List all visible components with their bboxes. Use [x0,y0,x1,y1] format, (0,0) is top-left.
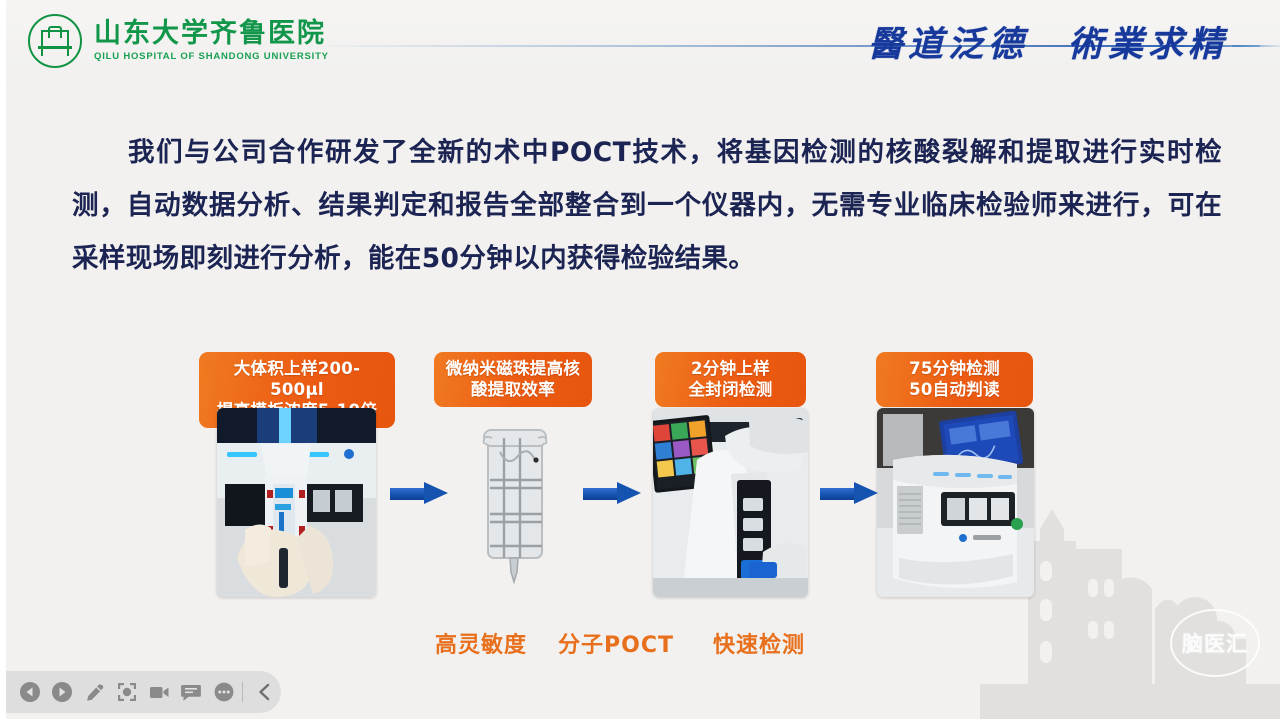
player-toolbar [0,671,281,713]
collapse-toolbar-button[interactable] [249,675,281,709]
logo-bar [38,46,72,49]
qilu-gate-icon [28,14,82,68]
more-options-button[interactable] [208,675,240,709]
photo-microfluidic-cartridge [458,408,570,597]
badge-3-line-1: 2分钟上样 [665,358,796,379]
header-divider-line-right [1232,45,1280,47]
photo-analyzer-touchscreen-loading [653,408,808,597]
previous-icon [19,681,41,703]
pen-icon [84,681,106,703]
video-camera-icon [148,681,170,703]
speech-bubble-icon [180,681,202,703]
arrow-shaft [390,488,428,500]
badge-2-line-2: 酸提取效率 [444,379,582,400]
slide-body-paragraph: 我们与公司合作研发了全新的术中POCT技术，将基因检测的核酸裂解和提取进行实时检… [72,126,1222,285]
flow-caption-3: 快速检测 [713,627,805,659]
play-icon [51,681,73,703]
badge-4-line-2: 50自动判读 [886,379,1023,400]
arrow-head [617,482,641,504]
badge-4-line-1: 75分钟检测 [886,358,1023,379]
workflow-badge-4: 75分钟检测 50自动判读 [876,352,1033,407]
badge-1-line-1: 大体积上样200-500μl [209,358,385,400]
record-video-button[interactable] [143,675,175,709]
ellipsis-icon [213,681,235,703]
photo-gloved-hand-loading-cartridge [217,408,376,597]
focus-frame-icon [116,681,138,703]
workflow-badge-2: 微纳米磁珠提高核 酸提取效率 [434,352,592,407]
arrow-head [424,482,448,504]
flow-arrow-1 [390,482,448,504]
slide-left-edge [0,0,6,719]
arrow-head [854,482,878,504]
logo-english-name: QILU HOSPITAL OF SHANDONG UNIVERSITY [94,51,329,62]
arrow-shaft [583,488,621,500]
poct-workflow-diagram: 大体积上样200-500μl 提高模板浓度5-10倍 微纳米磁珠提高核 酸提取效… [0,352,1280,662]
chevron-left-icon [255,682,275,702]
flow-arrow-3 [820,482,878,504]
photo-benchtop-analyzer [877,408,1034,597]
next-slide-button[interactable] [46,675,78,709]
presentation-slide: 山东大学齐鲁医院 QILU HOSPITAL OF SHANDONG UNIVE… [0,0,1280,719]
badge-3-line-2: 全封闭检测 [665,379,796,400]
toolbar-separator [242,682,243,702]
flow-caption-2: 分子POCT [558,627,674,659]
flow-arrow-2 [583,482,641,504]
arrow-shaft [820,488,858,500]
badge-2-line-1: 微纳米磁珠提高核 [444,358,582,379]
previous-slide-button[interactable] [14,675,46,709]
comment-button[interactable] [175,675,207,709]
pen-annotate-button[interactable] [79,675,111,709]
flow-caption-1: 高灵敏度 [435,627,527,659]
logo-text-block: 山东大学齐鲁医院 QILU HOSPITAL OF SHANDONG UNIVE… [94,20,329,62]
logo-chinese-name: 山东大学齐鲁医院 [94,20,329,48]
workflow-badge-3: 2分钟上样 全封闭检测 [655,352,806,407]
header-calligraphy-motto: 醫道泛德 術業求精 [868,16,1228,67]
hospital-logo: 山东大学齐鲁医院 QILU HOSPITAL OF SHANDONG UNIVE… [28,14,329,68]
screenshot-button[interactable] [111,675,143,709]
